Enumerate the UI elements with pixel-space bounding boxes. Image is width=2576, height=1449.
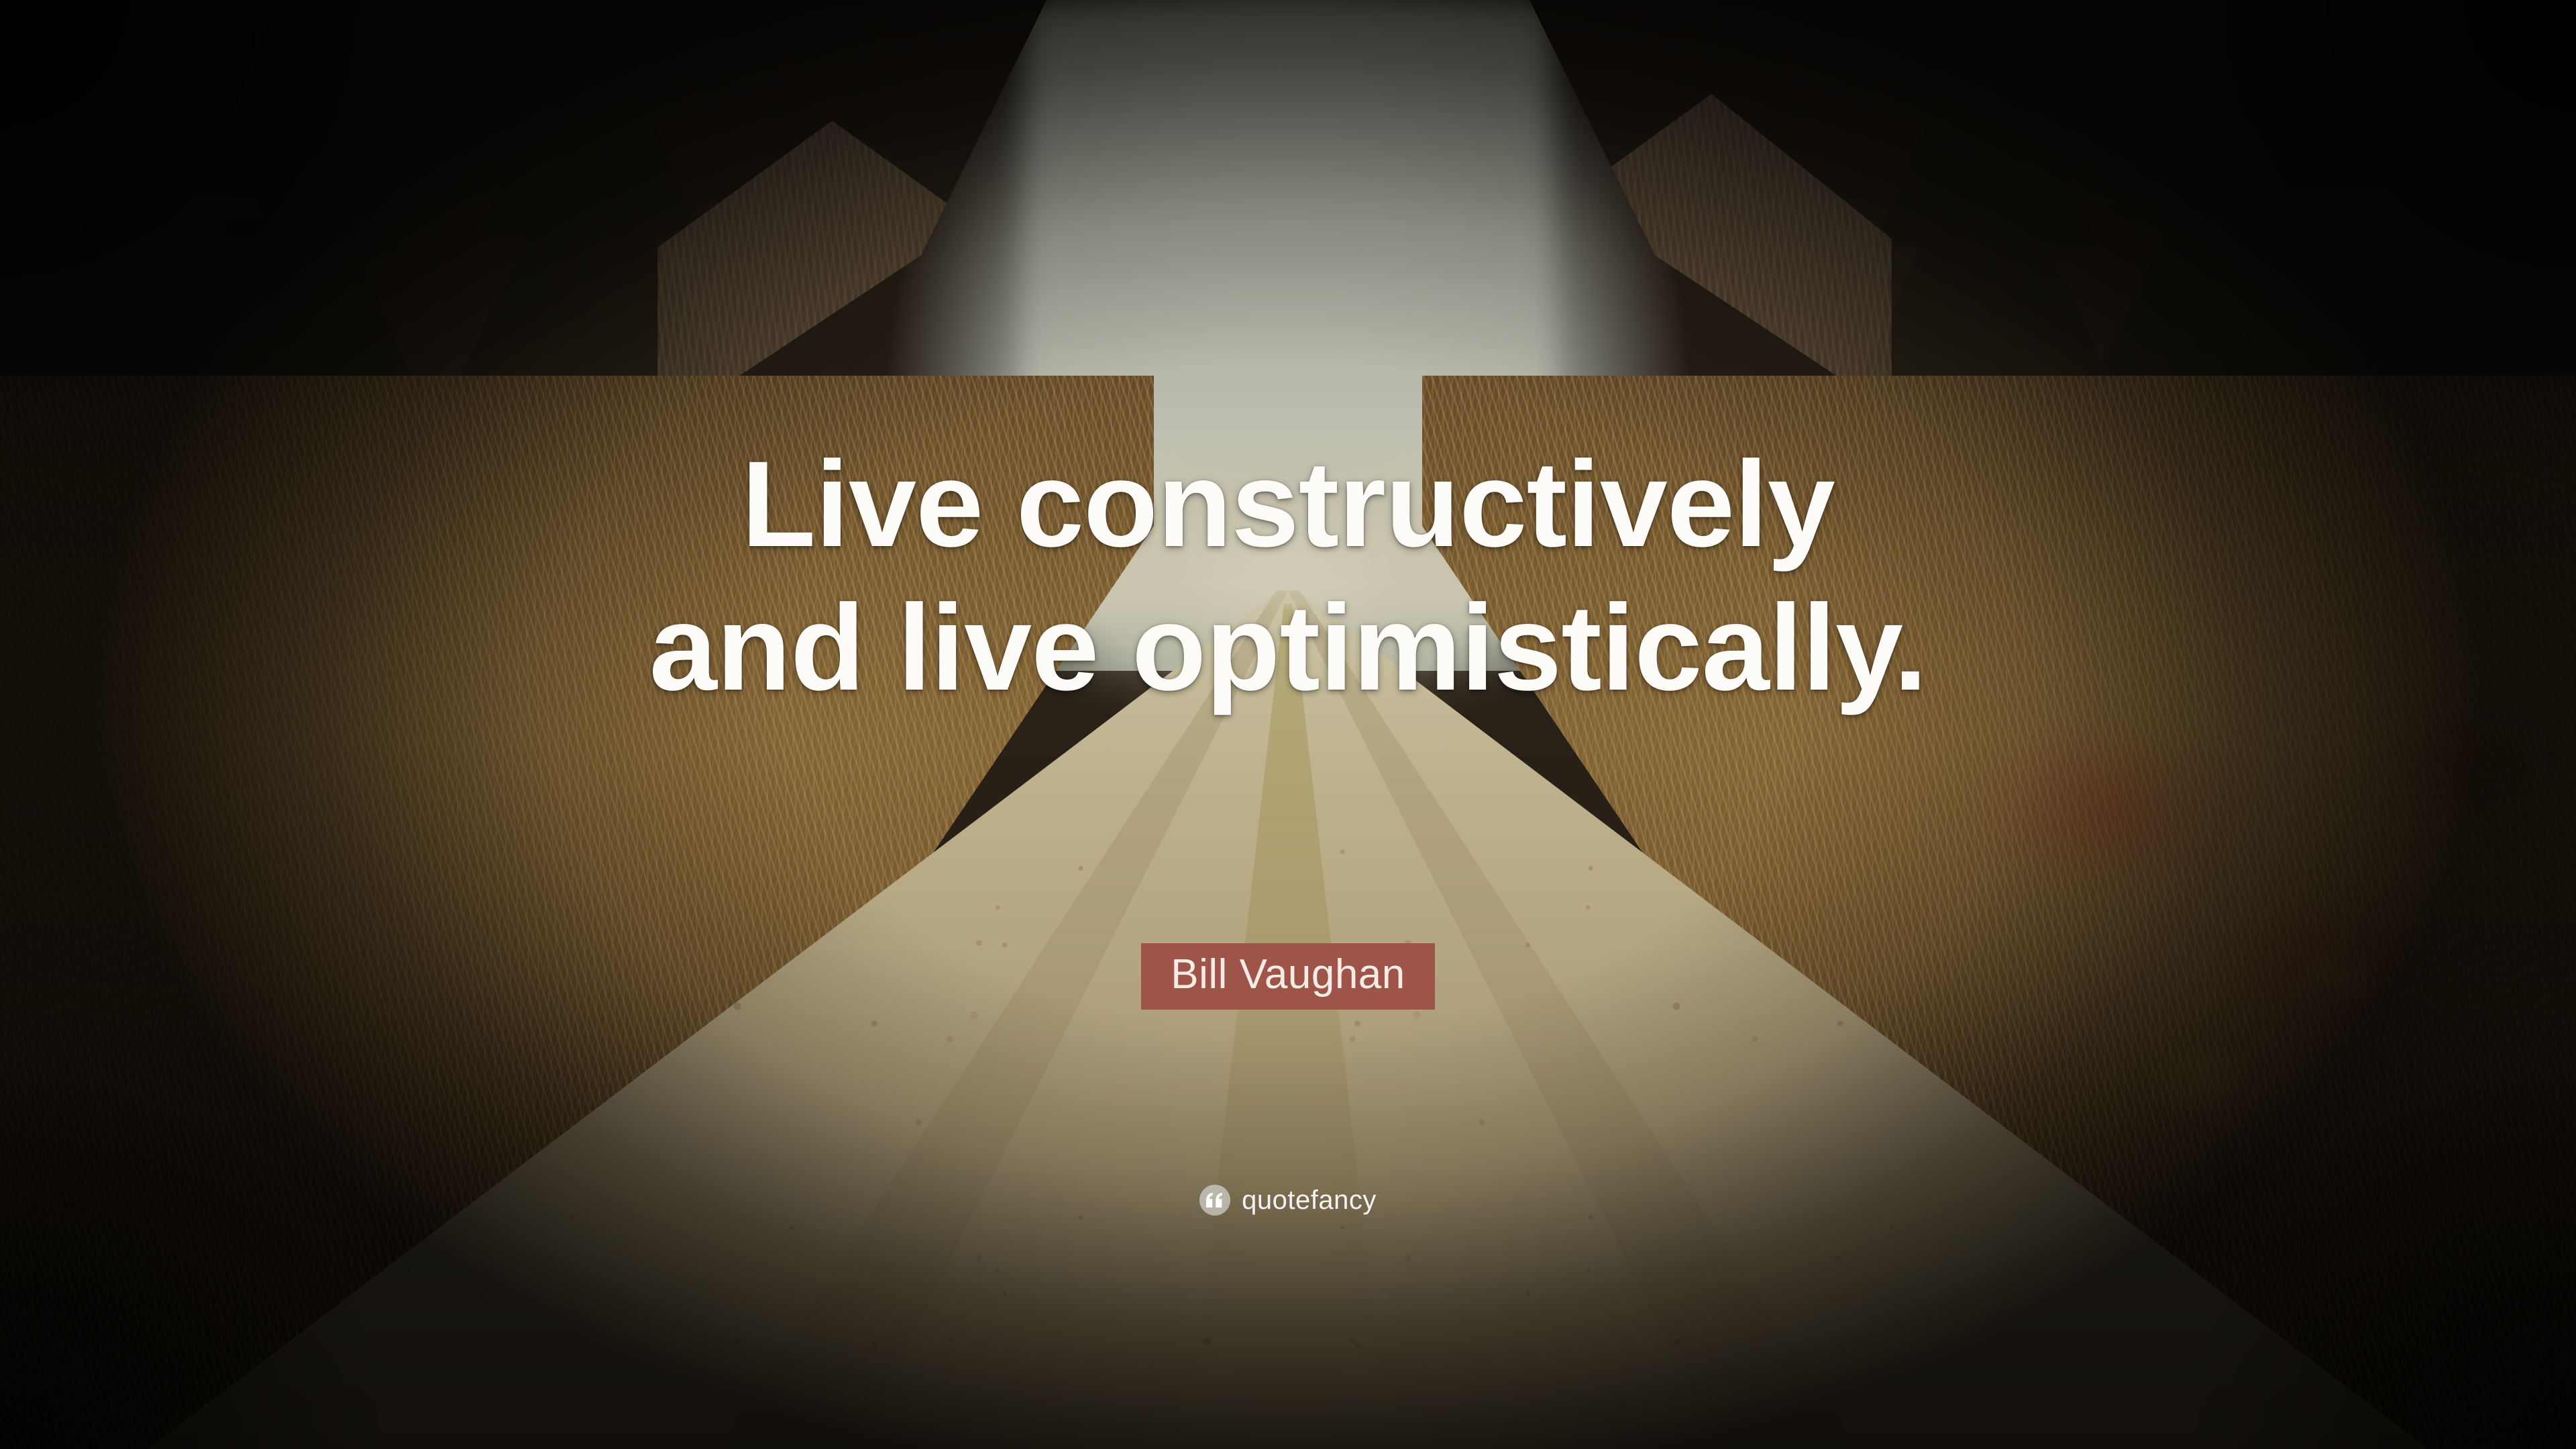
quote-poster: Live constructively and live optimistica…	[0, 0, 2576, 1449]
background-photo	[0, 0, 2576, 1449]
author-name-badge[interactable]: Bill Vaughan	[1141, 943, 1435, 1010]
road-debris	[0, 792, 2576, 1449]
watermark-brand: quotefancy	[1242, 1187, 1377, 1214]
watermark[interactable]: quotefancy	[0, 1185, 2576, 1216]
author-attribution: Bill Vaughan	[0, 943, 2576, 1010]
quote-mark-icon	[1199, 1185, 1230, 1216]
